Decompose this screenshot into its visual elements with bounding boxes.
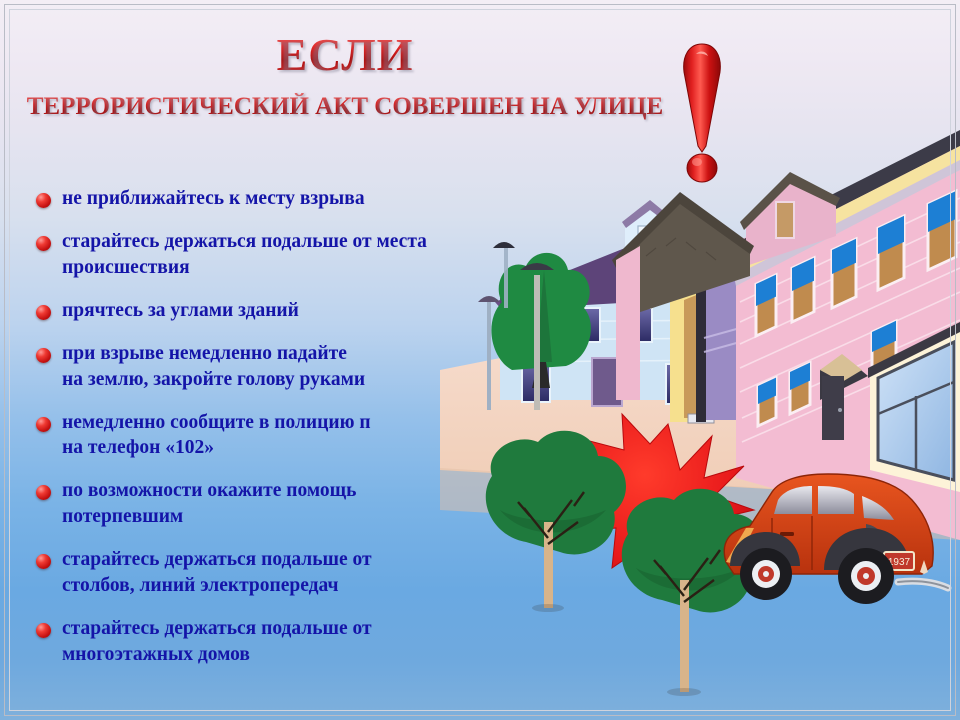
list-item-label: немедленно сообщите в полицию п на телеф…	[62, 410, 371, 462]
list-item-label: прячтесь за углами зданий	[62, 298, 299, 324]
list-item-label: старайтесь держаться подальше от многоэт…	[62, 616, 372, 668]
wheel-front	[740, 548, 792, 600]
list-item: немедленно сообщите в полицию п на телеф…	[36, 410, 536, 462]
bullet-dot-icon	[36, 623, 51, 638]
bullet-dot-icon	[36, 348, 51, 363]
list-item-label: старайтесь держаться подальше от места п…	[62, 229, 427, 281]
poster-title-main: ЕСЛИ	[0, 32, 690, 79]
bullet-dot-icon	[36, 305, 51, 320]
safety-instructions-list: не приближайтесь к месту взрыва старайте…	[36, 186, 536, 685]
list-item-label: по возможности окажите помощь потерпевши…	[62, 478, 356, 530]
bullet-dot-icon	[36, 554, 51, 569]
list-item: старайтесь держаться подальше от многоэт…	[36, 616, 536, 668]
bullet-dot-icon	[36, 236, 51, 251]
exclamation-mark-icon	[672, 38, 732, 188]
list-item: прячтесь за углами зданий	[36, 298, 536, 324]
bullet-dot-icon	[36, 485, 51, 500]
list-item: старайтесь держаться подальше от места п…	[36, 229, 536, 281]
list-item: по возможности окажите помощь потерпевши…	[36, 478, 536, 530]
list-item: старайтесь держаться подальше от столбов…	[36, 547, 536, 599]
list-item-label: при взрыве немедленно падайте на землю, …	[62, 341, 365, 393]
list-item: при взрыве немедленно падайте на землю, …	[36, 341, 536, 393]
list-item-label: не приближайтесь к месту взрыва	[62, 186, 365, 212]
wheel-rear	[838, 548, 894, 604]
poster-title-subtitle: ТЕРРОРИСТИЧЕСКИЙ АКТ СОВЕРШЕН НА УЛИЦЕ	[0, 93, 690, 121]
list-item: не приближайтесь к месту взрыва	[36, 186, 536, 212]
list-item-label: старайтесь держаться подальше от столбов…	[62, 547, 372, 599]
bullet-dot-icon	[36, 417, 51, 432]
bullet-dot-icon	[36, 193, 51, 208]
safety-poster: 1937 ЕСЛИ ТЕРРОРИСТ	[0, 0, 960, 720]
poster-title-block: ЕСЛИ ТЕРРОРИСТИЧЕСКИЙ АКТ СОВЕРШЕН НА УЛ…	[0, 32, 690, 121]
deciduous-tree-right	[622, 489, 762, 696]
